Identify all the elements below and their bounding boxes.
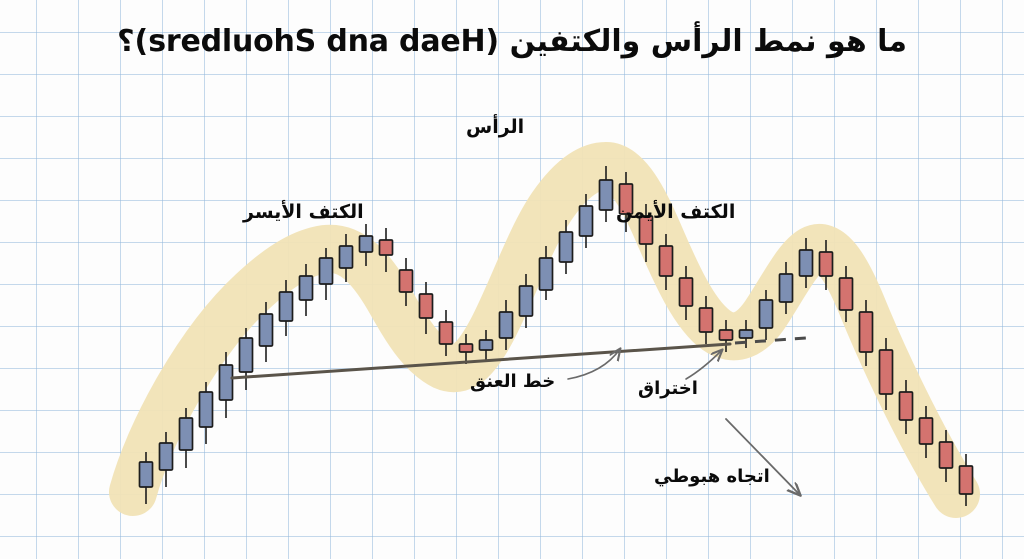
candle-body-down — [900, 392, 913, 420]
candle-body-down — [880, 350, 893, 394]
candle-body-down — [920, 418, 933, 444]
candle-body-up — [300, 276, 313, 300]
candle-body-down — [460, 344, 473, 352]
candle-body-up — [740, 330, 753, 338]
candlestick-chart — [0, 0, 1024, 559]
candle-body-up — [500, 312, 513, 338]
candle-body-up — [480, 340, 493, 350]
candle-body-up — [320, 258, 333, 284]
candle-body-up — [580, 206, 593, 236]
candle-body-down — [860, 312, 873, 352]
pattern-highlight-band — [133, 166, 956, 494]
candle-body-up — [600, 180, 613, 210]
downtrend-arrow — [726, 419, 800, 495]
candle-body-down — [720, 330, 733, 340]
candle-body-down — [700, 308, 713, 332]
breakout-arrow — [686, 350, 722, 379]
candle-body-up — [260, 314, 273, 346]
candle-body-up — [180, 418, 193, 450]
candle-body-down — [960, 466, 973, 494]
annotation-arrows — [568, 349, 800, 495]
candle-body-up — [160, 443, 173, 470]
candle-body-down — [400, 270, 413, 292]
candle-body-up — [340, 246, 353, 268]
candle-body-up — [760, 300, 773, 328]
candle-body-down — [840, 278, 853, 310]
candle-body-down — [940, 442, 953, 468]
candle-body-down — [680, 278, 693, 306]
candle-body-down — [380, 240, 393, 255]
candle-body-down — [620, 184, 633, 214]
candle-body-down — [420, 294, 433, 318]
candle-body-up — [240, 338, 253, 372]
candle-body-up — [800, 250, 813, 276]
chart-canvas: ما هو نمط الرأس والكتفين (Head and Shoul… — [0, 0, 1024, 559]
candle-body-down — [820, 252, 833, 276]
candle-body-down — [440, 322, 453, 344]
candle-body-up — [280, 292, 293, 321]
candle-body-up — [780, 274, 793, 302]
candle-body-up — [520, 286, 533, 316]
candle-body-up — [200, 392, 213, 427]
candle-body-up — [560, 232, 573, 262]
candle-body-down — [660, 246, 673, 276]
candle-body-up — [540, 258, 553, 290]
candle-body-up — [220, 365, 233, 400]
candle-body-down — [640, 216, 653, 244]
candle-body-up — [140, 462, 153, 487]
candle-body-up — [360, 236, 373, 252]
